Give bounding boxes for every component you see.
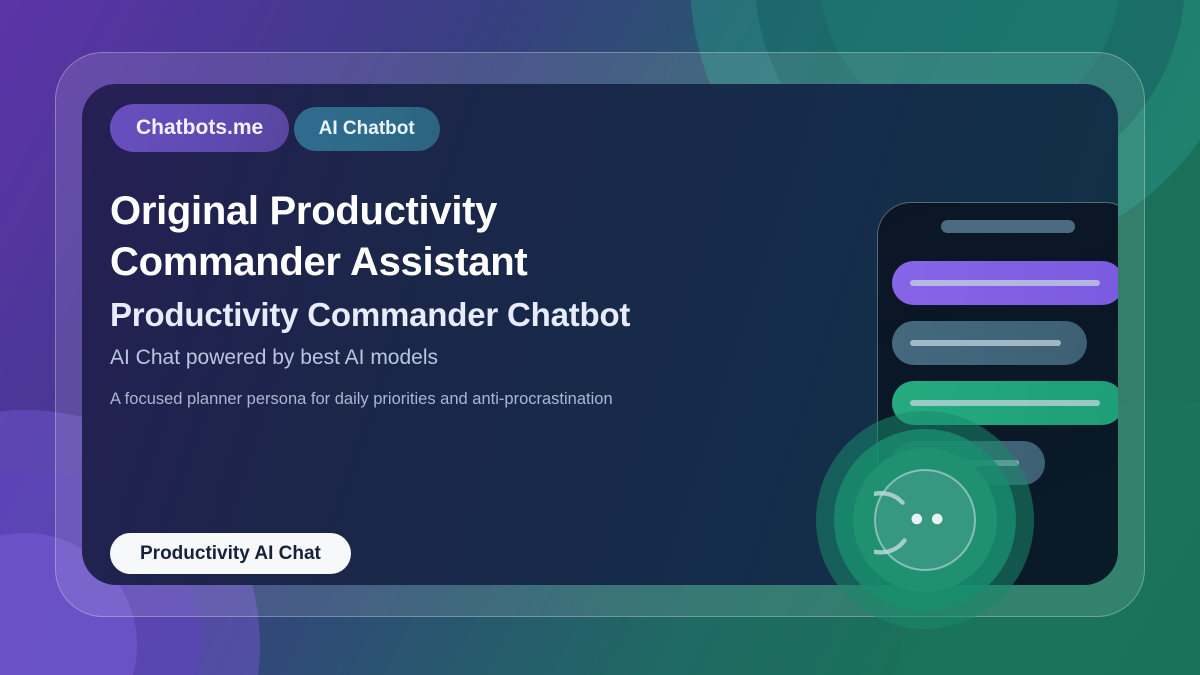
avatar: [816, 411, 1034, 629]
page-title: Original Productivity Commander Assistan…: [110, 186, 670, 288]
chat-bubble-user: [892, 261, 1118, 305]
chat-smiley-icon: [874, 469, 976, 571]
hero-text-column: Chatbots.me AI Chatbot Original Producti…: [110, 104, 800, 409]
phone-notch-bar: [941, 220, 1075, 233]
hero-tagline: AI Chat powered by best AI models: [110, 346, 800, 370]
page-subtitle: Productivity Commander Chatbot: [110, 294, 800, 335]
category-badge: AI Chatbot: [294, 107, 440, 151]
cta-button[interactable]: Productivity AI Chat: [110, 533, 351, 574]
bubble-text-placeholder: [910, 400, 1100, 406]
bubble-text-placeholder: [910, 340, 1061, 346]
hero-description: A focused planner persona for daily prio…: [110, 390, 800, 409]
bubble-text-placeholder: [910, 280, 1100, 286]
brand-badge[interactable]: Chatbots.me: [110, 104, 289, 152]
chat-bubble-assistant: [892, 321, 1087, 365]
